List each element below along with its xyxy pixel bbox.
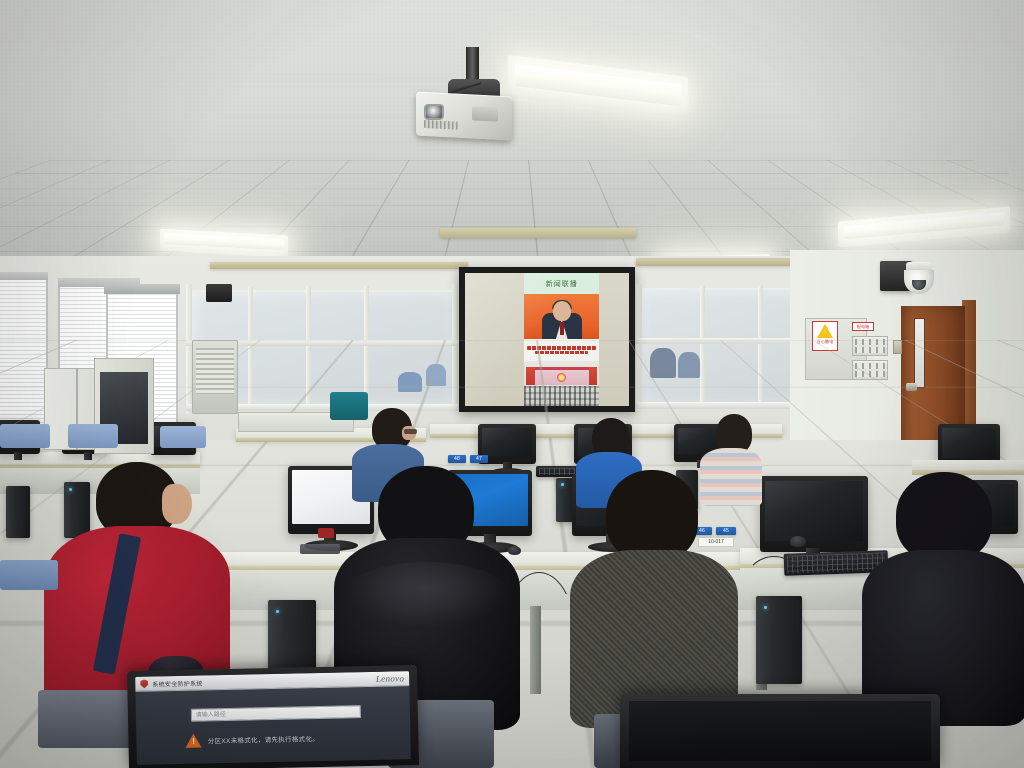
warning-text: 分区XX未格式化，请先执行格式化。 bbox=[208, 733, 319, 745]
hazard-triangle-icon bbox=[817, 324, 833, 338]
monitor-stand-accent bbox=[318, 528, 334, 538]
ceiling-beam-center bbox=[440, 228, 636, 238]
mon-right-a[interactable] bbox=[760, 476, 868, 554]
fur-hood-trim bbox=[344, 562, 510, 628]
broadcast-speaker-shot bbox=[524, 294, 599, 339]
classroom-photo-scene: 新闻联播 bbox=[0, 0, 1024, 768]
breaker-row bbox=[855, 339, 885, 345]
breaker-box-upper bbox=[852, 336, 888, 356]
breaker-row bbox=[855, 371, 885, 377]
chair-blue-a bbox=[0, 424, 50, 448]
projector-lens bbox=[424, 104, 444, 120]
chair-teal-backrow bbox=[330, 392, 368, 420]
power-led bbox=[764, 606, 767, 609]
foreground-monitor-right[interactable] bbox=[620, 694, 940, 768]
chair-blue-c bbox=[160, 426, 206, 448]
warning-message: 分区XX未格式化，请先执行格式化。 bbox=[186, 731, 320, 748]
electric-shock-warning-sign: 当心触电 bbox=[812, 321, 838, 351]
desk-tag-2: 47 bbox=[470, 455, 488, 463]
foreground-monitor-right-screen[interactable] bbox=[629, 701, 931, 761]
person-face bbox=[162, 484, 192, 524]
person-head bbox=[896, 472, 992, 562]
person-dark-right bbox=[862, 472, 1024, 722]
monitor-neck bbox=[84, 452, 92, 460]
chair-blue-front bbox=[0, 560, 58, 590]
foreground-monitor-left[interactable]: 系统安全防护系统 Lenovo 请输入路径 分区XX未格式化，请先执行格式化。 bbox=[127, 665, 419, 768]
power-led bbox=[561, 483, 564, 486]
hazard-sign-text: 当心触电 bbox=[816, 339, 833, 345]
glasses bbox=[404, 429, 417, 434]
window-title: 系统安全防护系统 bbox=[152, 678, 203, 688]
broadcast-speaker-tie bbox=[560, 322, 564, 335]
access-card-reader[interactable] bbox=[893, 340, 902, 354]
ceiling-beam-left bbox=[210, 262, 468, 269]
projector-vent bbox=[424, 120, 458, 130]
shield-icon bbox=[140, 679, 148, 688]
tower-pc-under-b[interactable] bbox=[756, 596, 802, 684]
window-titlebar: 系统安全防护系统 Lenovo bbox=[135, 671, 409, 692]
ceiling-beam-right bbox=[636, 258, 806, 266]
monitor-neck bbox=[14, 452, 22, 460]
equipment-label: 配电箱 bbox=[852, 322, 874, 331]
projector-panel bbox=[472, 106, 498, 121]
desk-tag-1: 48 bbox=[448, 455, 466, 463]
window-blind-headrail-1 bbox=[0, 272, 48, 280]
breaker-row bbox=[855, 347, 885, 353]
chair-blue-b bbox=[68, 424, 118, 448]
person-grey-tweed bbox=[570, 470, 738, 720]
path-input-field[interactable]: 请输入路径 bbox=[191, 706, 361, 723]
window-blind-headrail-3 bbox=[104, 284, 180, 294]
projector-pole-mount bbox=[466, 47, 479, 83]
door-handle[interactable] bbox=[906, 383, 917, 391]
breaker-row bbox=[855, 363, 885, 369]
tower-pc-far-left[interactable] bbox=[6, 486, 30, 538]
person-head bbox=[606, 470, 698, 562]
air-conditioner-vent bbox=[196, 348, 234, 394]
breaker-box-lower bbox=[852, 360, 888, 380]
wall-speaker-left bbox=[206, 284, 232, 302]
mouse-right[interactable] bbox=[790, 536, 806, 547]
broadcast-speaker-head bbox=[553, 301, 571, 321]
broadcast-channel-logo: 新闻联播 bbox=[524, 273, 599, 294]
power-led bbox=[276, 610, 279, 613]
lenovo-system-screen[interactable]: 系统安全防护系统 Lenovo 请输入路径 分区XX未格式化，请先执行格式化。 bbox=[135, 671, 411, 765]
partition-mullion-8 bbox=[758, 286, 763, 406]
warning-triangle-icon bbox=[186, 734, 202, 748]
door-vision-panel bbox=[914, 318, 925, 388]
lenovo-brand-logo: Lenovo bbox=[376, 673, 405, 684]
